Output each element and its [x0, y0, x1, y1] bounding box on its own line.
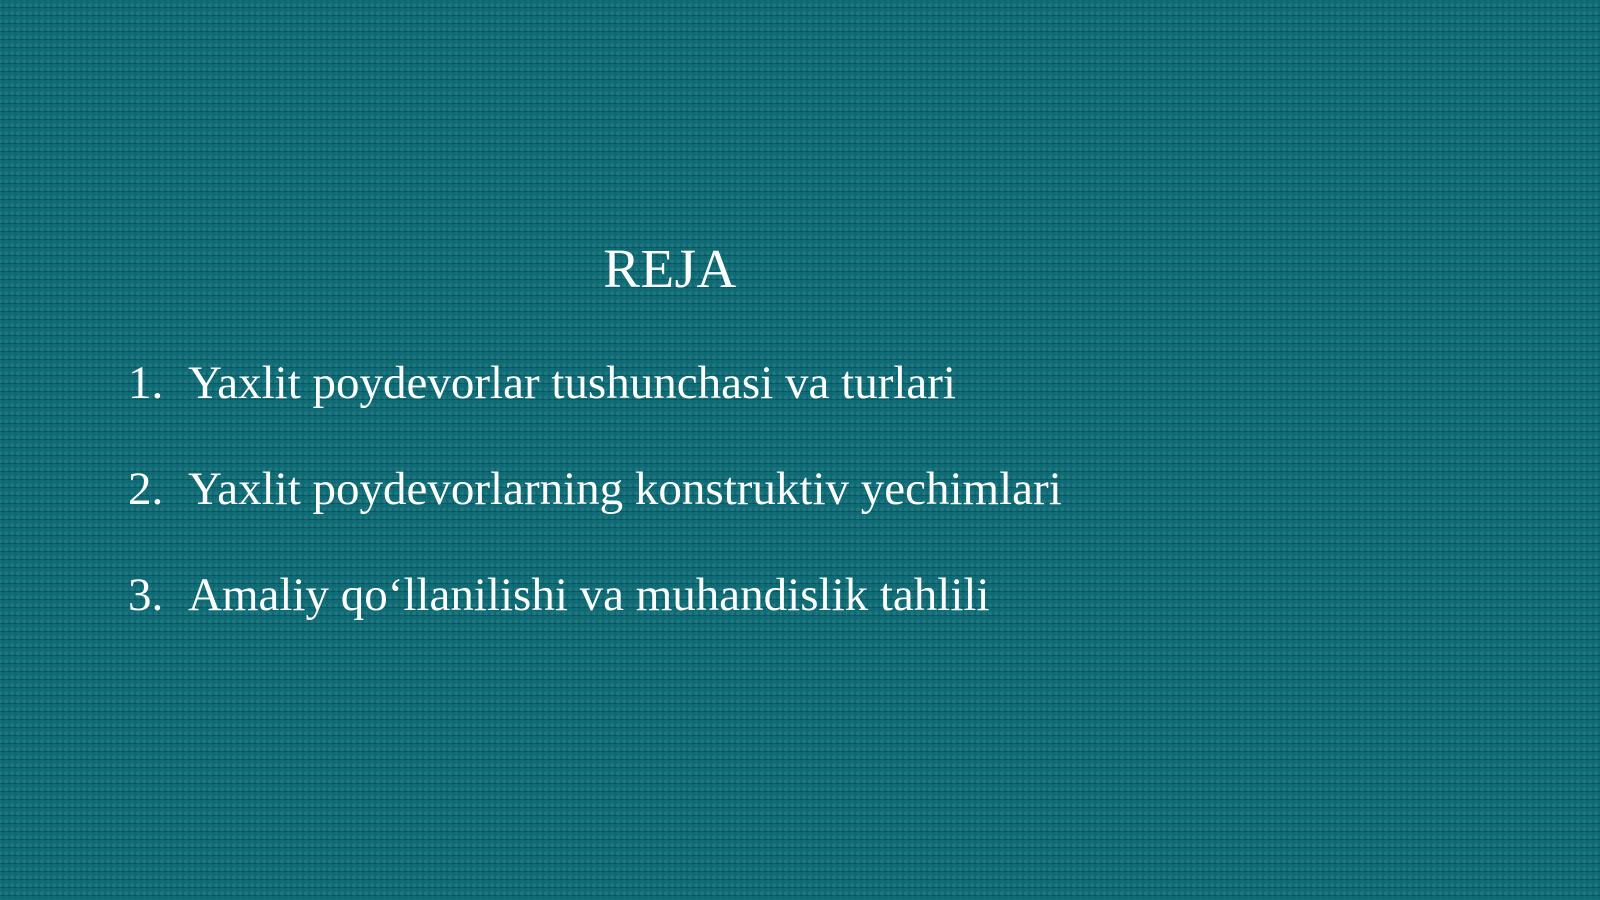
agenda-item-3: 3. Amaliy qo‘llanilishi va muhandislik t… — [128, 564, 1468, 670]
agenda-item-1: 1. Yaxlit poydevorlar tushunchasi va tur… — [128, 352, 1468, 458]
slide-title: REJA — [0, 236, 1600, 302]
agenda-list: 1. Yaxlit poydevorlar tushunchasi va tur… — [128, 352, 1468, 670]
slide-content: REJA 1. Yaxlit poydevorlar tushunchasi v… — [0, 0, 1600, 900]
agenda-item-2: 2. Yaxlit poydevorlarning konstruktiv ye… — [128, 458, 1468, 564]
agenda-item-number: 2. — [128, 458, 188, 520]
agenda-item-text: Yaxlit poydevorlarning konstruktiv yechi… — [188, 458, 1062, 520]
agenda-item-text: Yaxlit poydevorlar tushunchasi va turlar… — [188, 352, 956, 414]
agenda-item-number: 3. — [128, 564, 188, 626]
presentation-slide: REJA 1. Yaxlit poydevorlar tushunchasi v… — [0, 0, 1600, 900]
agenda-item-text: Amaliy qo‘llanilishi va muhandislik tahl… — [188, 564, 990, 626]
agenda-item-number: 1. — [128, 352, 188, 414]
